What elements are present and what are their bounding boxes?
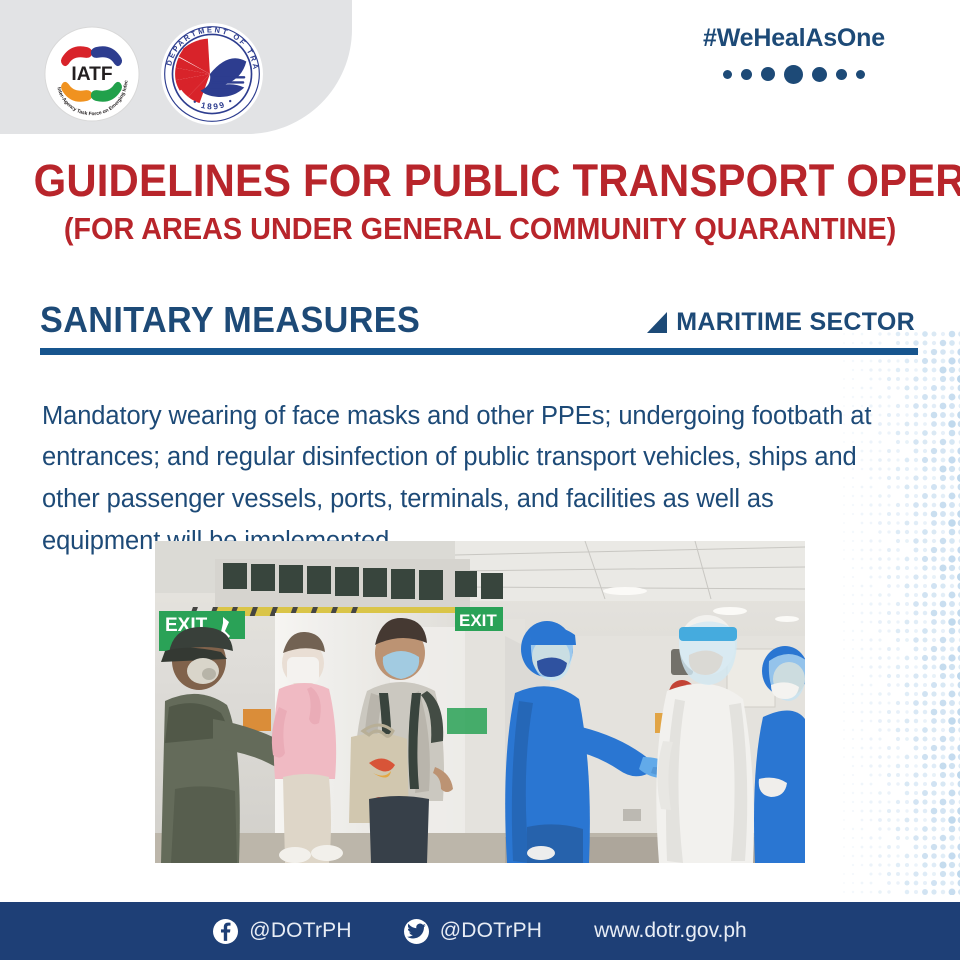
footer-twitter[interactable]: @DOTrPH [404, 919, 542, 944]
website-link[interactable]: www.dotr.gov.ph [594, 919, 747, 943]
hashtag-dot-5 [836, 69, 847, 80]
hashtag-block: #WeHealAsOne [664, 26, 924, 84]
title-block: GUIDELINES FOR PUBLIC TRANSPORT OPERATIO… [0, 158, 960, 245]
page-title: GUIDELINES FOR PUBLIC TRANSPORT OPERATIO… [34, 158, 927, 204]
section-heading: SANITARY MEASURES [40, 302, 420, 338]
sail-triangle-icon [647, 312, 667, 333]
logo-group: IATF Inter-Agency Task Force on Emerging… [44, 22, 264, 126]
facebook-icon [213, 919, 238, 944]
iatf-logo: IATF Inter-Agency Task Force on Emerging… [44, 26, 140, 122]
sector-tag-label: MARITIME SECTOR [676, 310, 915, 335]
iatf-logo-label: IATF [71, 64, 112, 85]
hashtag-dot-1 [741, 69, 752, 80]
sector-tag: MARITIME SECTOR [647, 310, 915, 338]
page-subtitle: (FOR AREAS UNDER GENERAL COMMUNITY QUARA… [34, 213, 927, 245]
twitter-handle: @DOTrPH [440, 919, 542, 943]
facebook-handle: @DOTrPH [249, 919, 351, 943]
hashtag-dot-4 [812, 67, 827, 82]
hashtag-text: #WeHealAsOne [664, 26, 924, 51]
hashtag-dot-6 [856, 70, 865, 79]
hashtag-dot-0 [723, 70, 732, 79]
infographic-poster: IATF Inter-Agency Task Force on Emerging… [0, 0, 960, 960]
section-header-row: SANITARY MEASURES MARITIME SECTOR [40, 288, 915, 338]
body-text: Mandatory wearing of face masks and othe… [42, 396, 872, 563]
hashtag-dot-3 [784, 65, 803, 84]
terminal-screening-photo: EXIT EXIT [155, 541, 805, 863]
hashtag-dot-row [664, 64, 924, 84]
dotr-seal: DEPARTMENT OF TRANSPORTATION • 1899 • [160, 22, 264, 126]
footer-bar: @DOTrPH @DOTrPH www.dotr.gov.ph [0, 902, 960, 960]
hashtag-dot-2 [761, 67, 775, 81]
twitter-icon [404, 919, 429, 944]
section-divider [40, 348, 918, 355]
footer-facebook[interactable]: @DOTrPH [213, 919, 351, 944]
